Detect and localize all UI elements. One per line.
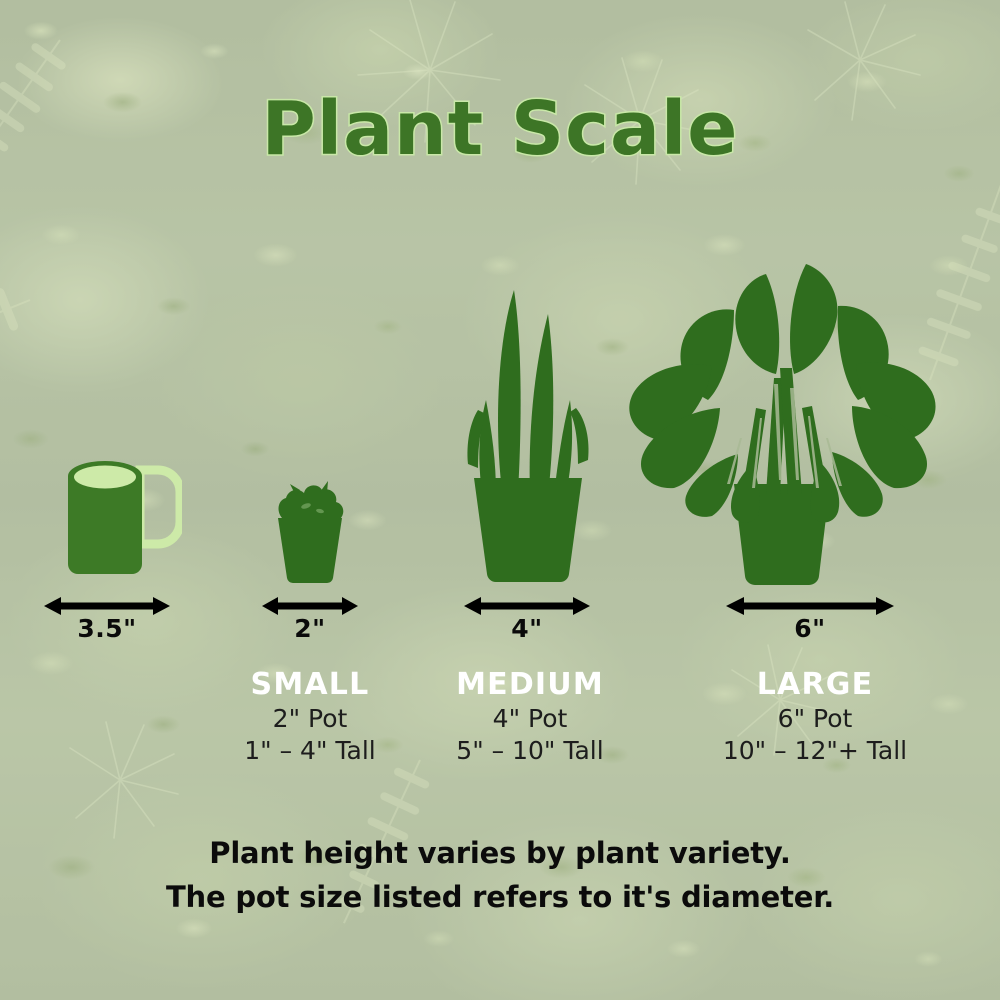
large-potted-plant-icon — [616, 258, 946, 588]
small-potted-plant-icon — [262, 478, 358, 584]
caption-heading-small: SMALL — [195, 668, 425, 703]
measurement-arrow-medium: 4" — [464, 596, 590, 622]
measurement-arrow-small: 2" — [262, 596, 358, 622]
footer-line-1: Plant height varies by plant variety. — [0, 832, 1000, 876]
page-title: Plant Scale — [0, 92, 1000, 166]
measurement-label-large: 6" — [726, 614, 894, 643]
caption-height-large: 10" – 12"+ Tall — [700, 735, 930, 767]
plant-scale-infographic: Plant Scale 3.5" — [0, 0, 1000, 1000]
caption-small: SMALL 2" Pot 1" – 4" Tall — [195, 668, 425, 767]
caption-medium: MEDIUM 4" Pot 5" – 10" Tall — [415, 668, 645, 767]
caption-heading-large: LARGE — [700, 668, 930, 703]
measurement-label-mug: 3.5" — [44, 614, 170, 643]
footer-line-2: The pot size listed refers to it's diame… — [0, 876, 1000, 920]
caption-heading-medium: MEDIUM — [415, 668, 645, 703]
measurement-label-small: 2" — [262, 614, 358, 643]
coffee-mug-icon — [52, 452, 182, 587]
measurement-label-medium: 4" — [464, 614, 590, 643]
measurement-arrow-mug: 3.5" — [44, 596, 170, 622]
caption-pot-large: 6" Pot — [700, 703, 930, 735]
footer-note: Plant height varies by plant variety. Th… — [0, 832, 1000, 919]
caption-height-medium: 5" – 10" Tall — [415, 735, 645, 767]
medium-potted-plant-icon — [452, 282, 602, 584]
caption-large: LARGE 6" Pot 10" – 12"+ Tall — [700, 668, 930, 767]
measurement-arrow-large: 6" — [726, 596, 894, 622]
caption-height-small: 1" – 4" Tall — [195, 735, 425, 767]
caption-pot-small: 2" Pot — [195, 703, 425, 735]
caption-pot-medium: 4" Pot — [415, 703, 645, 735]
